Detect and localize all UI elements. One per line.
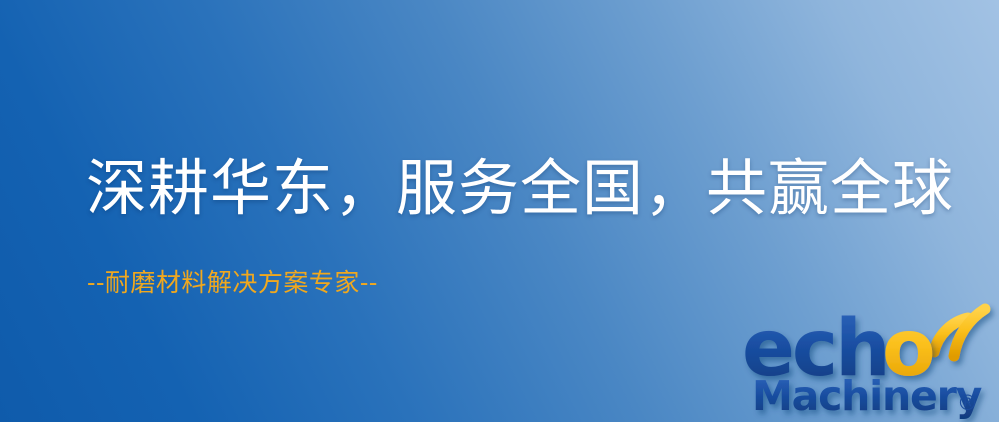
registered-trademark-icon: ® (957, 391, 978, 415)
echo-machinery-logo[interactable]: ech o Machinery ® (742, 300, 999, 422)
banner-headline: 深耕华东，服务全国，共赢全球 (86, 152, 954, 226)
promotional-banner: 深耕华东，服务全国，共赢全球 --耐磨材料解决方案专家-- (0, 0, 999, 422)
signal-wave-icon (934, 309, 985, 356)
logo-text-machinery: Machinery (752, 372, 982, 420)
banner-subtitle: --耐磨材料解决方案专家-- (87, 267, 378, 299)
